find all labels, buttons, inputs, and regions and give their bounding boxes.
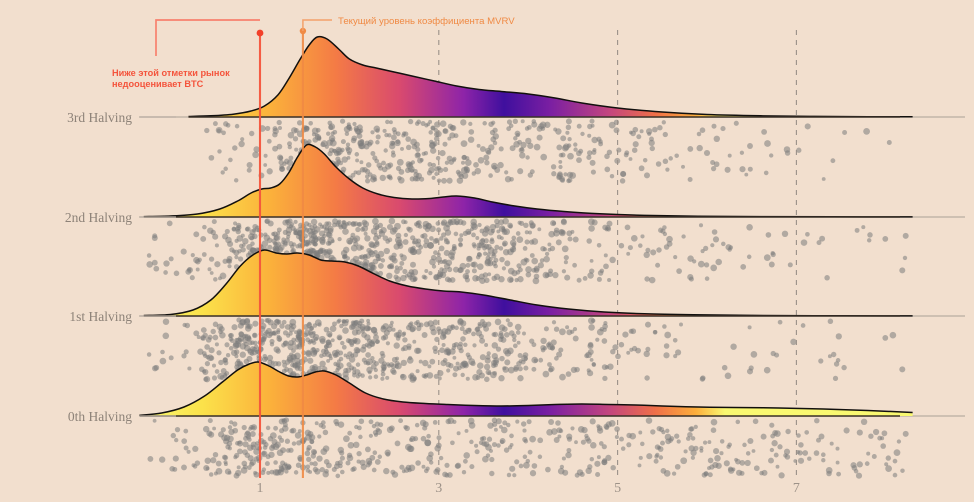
rug-point (769, 423, 774, 428)
rug-point (814, 418, 819, 423)
rug-point (250, 340, 255, 345)
rug-point (479, 338, 485, 344)
rug-point (463, 459, 468, 464)
rug-point (480, 437, 484, 441)
rug-point (251, 441, 257, 447)
rug-point (580, 132, 584, 136)
rug-point (457, 171, 463, 177)
rug-point (304, 221, 309, 226)
rug-point (261, 337, 266, 342)
rug-point (725, 167, 731, 173)
rug-point (221, 427, 226, 432)
rug-point (788, 262, 793, 267)
x-axis-tick-label: 3 (435, 481, 442, 496)
rug-point (424, 439, 431, 446)
rug-point (204, 344, 210, 350)
rug-point (452, 356, 456, 360)
rug-point (360, 227, 365, 232)
rug-point (662, 324, 667, 329)
rug-point (537, 135, 543, 141)
y-axis-label: 1st Halving (69, 309, 132, 324)
rug-point (163, 260, 169, 266)
rug-point (496, 443, 501, 448)
rug-point (402, 269, 407, 274)
rug-point (826, 471, 832, 477)
rug-point (468, 129, 474, 135)
rug-point (483, 155, 489, 161)
rug-point (477, 144, 481, 148)
rug-point (527, 419, 532, 424)
rug-point (805, 123, 811, 129)
rug-point (484, 343, 488, 347)
rug-point (272, 439, 278, 445)
rug-point (465, 429, 469, 433)
rug-point (263, 332, 267, 336)
rug-point (185, 323, 190, 328)
rug-point (490, 372, 497, 379)
rug-point (184, 446, 189, 451)
rug-point (276, 328, 280, 332)
rug-point (764, 140, 771, 147)
rug-point (286, 231, 291, 236)
rug-point (573, 142, 577, 146)
rug-point (403, 239, 409, 245)
rug-point (216, 468, 223, 475)
rug-point (689, 277, 694, 282)
rug-point (646, 417, 653, 424)
rug-point (192, 446, 198, 452)
rug-point (836, 447, 840, 451)
rug-point (439, 456, 443, 460)
rug-point (191, 253, 195, 257)
rug-point (364, 235, 370, 241)
rug-point (238, 256, 243, 261)
rug-point (203, 465, 209, 471)
rug-point (227, 241, 233, 247)
rug-point (283, 341, 288, 346)
rug-point (814, 450, 820, 456)
rug-point (764, 367, 771, 374)
rug-point (254, 345, 258, 349)
rug-point (221, 170, 225, 174)
rug-point (638, 463, 642, 467)
rug-point (576, 157, 582, 163)
rug-point (398, 177, 405, 184)
rug-point (152, 233, 157, 238)
rug-point (736, 420, 741, 425)
undervalued-bracket (156, 20, 260, 56)
rug-point (674, 153, 679, 158)
rug-point (472, 275, 479, 282)
rug-point (561, 230, 565, 234)
rug-point (646, 453, 652, 459)
rug-point (893, 473, 898, 478)
rug-point (697, 145, 703, 151)
rug-point (318, 222, 322, 226)
rug-point (369, 251, 376, 258)
rug-point (373, 223, 380, 230)
rug-point (354, 170, 358, 174)
rug-point (523, 366, 528, 371)
rug-point (415, 222, 420, 227)
rug-point (622, 331, 628, 337)
rug-point (676, 268, 682, 274)
rug-point (573, 336, 579, 342)
rug-point (619, 342, 625, 348)
rug-point (553, 128, 557, 132)
rug-point (778, 472, 784, 478)
rug-point (279, 156, 284, 161)
rug-point (227, 264, 231, 268)
rug-point (293, 355, 297, 359)
rug-point (159, 456, 165, 462)
rug-point (342, 228, 349, 235)
rug-point (558, 165, 562, 169)
rug-point (480, 146, 486, 152)
rug-point (499, 257, 504, 262)
rug-point (521, 119, 525, 123)
rug-point (442, 268, 448, 274)
rug-point (499, 324, 506, 331)
rug-point (246, 356, 252, 362)
rug-point (472, 242, 476, 246)
rug-point (468, 418, 475, 425)
rug-point (409, 321, 413, 325)
rug-point (340, 119, 345, 124)
rug-point (414, 348, 420, 354)
rug-point (365, 174, 369, 178)
rug-point (778, 320, 783, 325)
rug-point (187, 267, 193, 273)
rug-point (311, 449, 317, 455)
rug-point (711, 419, 718, 426)
rug-point (370, 176, 376, 182)
rug-point (384, 248, 390, 254)
rug-point (704, 262, 709, 267)
rug-point (566, 434, 572, 440)
rug-point (761, 434, 767, 440)
rug-point (770, 448, 774, 452)
rug-point (439, 260, 443, 264)
rug-point (495, 319, 502, 326)
rug-point (590, 418, 596, 424)
rug-point (220, 273, 227, 280)
rug-point (240, 352, 246, 358)
rug-point (298, 429, 302, 433)
rug-point (777, 444, 782, 449)
rug-point (649, 140, 655, 146)
rug-point (445, 328, 451, 334)
rug-point (237, 465, 241, 469)
rug-point (644, 276, 649, 281)
rug-point (598, 270, 604, 276)
rug-point (544, 326, 549, 331)
rug-point (355, 158, 359, 162)
rug-point (433, 238, 439, 244)
rug-point (754, 465, 760, 471)
rug-point (330, 325, 337, 332)
rug-point (385, 452, 390, 457)
rug-point (658, 446, 664, 452)
rug-point (708, 458, 714, 464)
rug-point (645, 248, 650, 253)
rug-point (830, 158, 835, 163)
rug-point (492, 353, 498, 359)
rug-point (697, 132, 702, 137)
rug-point (352, 122, 356, 126)
rug-point (752, 449, 756, 453)
rug-point (445, 419, 450, 424)
rug-point (512, 473, 516, 477)
rug-point (374, 159, 379, 164)
rug-point (558, 160, 562, 164)
rug-point (494, 428, 498, 432)
rug-point (628, 245, 633, 250)
rug-point (516, 330, 521, 335)
rug-point (398, 418, 403, 423)
rug-point (369, 434, 373, 438)
rug-point (507, 348, 514, 355)
rug-point (711, 166, 716, 171)
rug-point (863, 128, 870, 135)
rug-point (865, 461, 870, 466)
rug-point (416, 120, 421, 125)
rug-point (605, 225, 610, 230)
rug-point (391, 370, 396, 375)
rug-point (882, 335, 888, 341)
rug-point (602, 376, 607, 381)
rug-point (514, 459, 519, 464)
rug-point (489, 239, 494, 244)
rug-point (305, 434, 312, 441)
rug-point (857, 430, 863, 436)
rug-point (163, 270, 168, 275)
rug-point (525, 230, 529, 234)
rug-point (319, 336, 326, 343)
rug-point (625, 225, 631, 231)
rug-point (424, 123, 428, 127)
rug-point (715, 259, 722, 266)
rug-point (899, 267, 905, 273)
rug-point (771, 351, 776, 356)
rug-point (337, 237, 341, 241)
rug-point (370, 151, 375, 156)
rug-point (319, 361, 325, 367)
rug-point (844, 427, 850, 433)
y-axis-label: 0th Halving (68, 409, 132, 424)
rug-point (771, 251, 775, 255)
rug-point (437, 370, 443, 376)
rug-point (337, 359, 341, 363)
rug-point (200, 335, 206, 341)
rug-point (316, 455, 322, 461)
rug-point (487, 371, 491, 375)
rug-point (681, 234, 685, 238)
rug-point (639, 456, 643, 460)
rug-point (665, 429, 669, 433)
rug-point (263, 442, 268, 447)
rug-point (470, 262, 475, 267)
rug-point (378, 257, 382, 261)
rug-point (424, 469, 429, 474)
rug-point (248, 427, 252, 431)
rug-point (288, 156, 293, 161)
rug-point (442, 343, 446, 347)
rug-point (444, 237, 448, 241)
rug-point (449, 348, 455, 354)
rug-point (719, 451, 723, 455)
rug-point (265, 461, 270, 466)
rug-point (430, 148, 436, 154)
rug-point (822, 177, 826, 181)
rug-point (580, 472, 585, 477)
rug-point (680, 457, 687, 464)
rug-point (497, 162, 503, 168)
rug-point (401, 360, 407, 366)
rug-point (483, 326, 489, 332)
rug-point (785, 454, 791, 460)
rug-point (213, 335, 219, 341)
rug-point (292, 341, 296, 345)
rug-point (428, 271, 432, 275)
rug-point (416, 152, 421, 157)
rug-point (308, 340, 312, 344)
rug-point (537, 437, 543, 443)
rug-point (234, 354, 238, 358)
rug-point (174, 438, 178, 442)
rug-point (552, 272, 558, 278)
rug-point (476, 255, 481, 260)
rug-point (452, 158, 456, 162)
rug-point (597, 277, 602, 282)
rug-point (380, 326, 386, 332)
rug-point (326, 132, 330, 136)
rug-point (463, 330, 468, 335)
rug-point (747, 143, 753, 149)
rug-point (903, 431, 909, 437)
rug-point (665, 438, 671, 444)
rug-point (386, 341, 390, 345)
rug-point (887, 140, 892, 145)
rug-point (624, 152, 629, 157)
rug-point (699, 223, 703, 227)
rug-point (638, 431, 642, 435)
rug-point (291, 248, 296, 253)
rug-point (329, 148, 334, 153)
rug-point (404, 220, 408, 224)
rug-point (746, 224, 753, 231)
rug-point (595, 338, 599, 342)
rug-point (402, 332, 406, 336)
rug-point (424, 321, 430, 327)
rug-point (574, 367, 580, 373)
rug-point (400, 147, 404, 151)
rug-point (215, 243, 219, 247)
rug-point (524, 356, 528, 360)
rug-point (861, 419, 867, 425)
rug-point (644, 375, 649, 380)
rug-point (235, 124, 240, 129)
rug-point (499, 246, 504, 251)
rug-point (328, 125, 333, 130)
rug-point (566, 118, 572, 124)
rug-point (277, 227, 282, 232)
rug-point (335, 156, 340, 161)
rug-point (389, 425, 395, 431)
rug-point (850, 462, 856, 468)
rug-point (175, 427, 180, 432)
rug-point (385, 120, 389, 124)
rug-point (649, 277, 656, 284)
rug-point (857, 461, 863, 467)
rug-point (353, 352, 359, 358)
x-axis-tick-label: 5 (614, 481, 621, 496)
rug-point (378, 166, 383, 171)
rug-point (714, 455, 721, 462)
rug-point (282, 360, 286, 364)
rug-point (272, 132, 277, 137)
rug-point (856, 473, 862, 479)
rug-point (249, 131, 254, 136)
rug-point (184, 349, 189, 354)
rug-point (525, 155, 529, 159)
rug-point (540, 258, 545, 263)
rug-point (216, 461, 222, 467)
rug-point (371, 364, 377, 370)
rug-point (408, 374, 413, 379)
rug-point (747, 438, 753, 444)
rug-point (502, 229, 508, 235)
rug-point (331, 131, 335, 135)
rug-point (374, 374, 379, 379)
rug-point (543, 346, 547, 350)
rug-point (522, 429, 526, 433)
rug-point (707, 440, 711, 444)
rug-point (358, 143, 364, 149)
rug-point (405, 444, 412, 451)
rug-point (216, 127, 223, 134)
rug-point (367, 142, 372, 147)
rug-point (562, 456, 566, 460)
rug-point (294, 148, 298, 152)
rug-point (745, 460, 751, 466)
rug-point (415, 460, 421, 466)
rug-point (346, 147, 352, 153)
rug-point (588, 324, 595, 331)
rug-point (675, 464, 681, 470)
rug-point (355, 326, 360, 331)
rug-point (478, 157, 485, 164)
rug-point (354, 338, 361, 345)
rug-point (493, 363, 498, 368)
rug-point (242, 449, 248, 455)
rug-point (355, 152, 360, 157)
rug-point (449, 125, 455, 131)
rug-point (673, 354, 677, 358)
rug-point (447, 178, 453, 184)
rug-point (599, 441, 604, 446)
rug-point (342, 327, 349, 334)
rug-point (146, 261, 153, 268)
rug-point (410, 436, 416, 442)
rug-point (433, 420, 438, 425)
rug-point (566, 230, 572, 236)
rug-point (427, 364, 431, 368)
rug-point (492, 442, 497, 447)
rug-point (282, 161, 286, 165)
rug-point (630, 131, 636, 137)
rug-point (202, 252, 207, 257)
